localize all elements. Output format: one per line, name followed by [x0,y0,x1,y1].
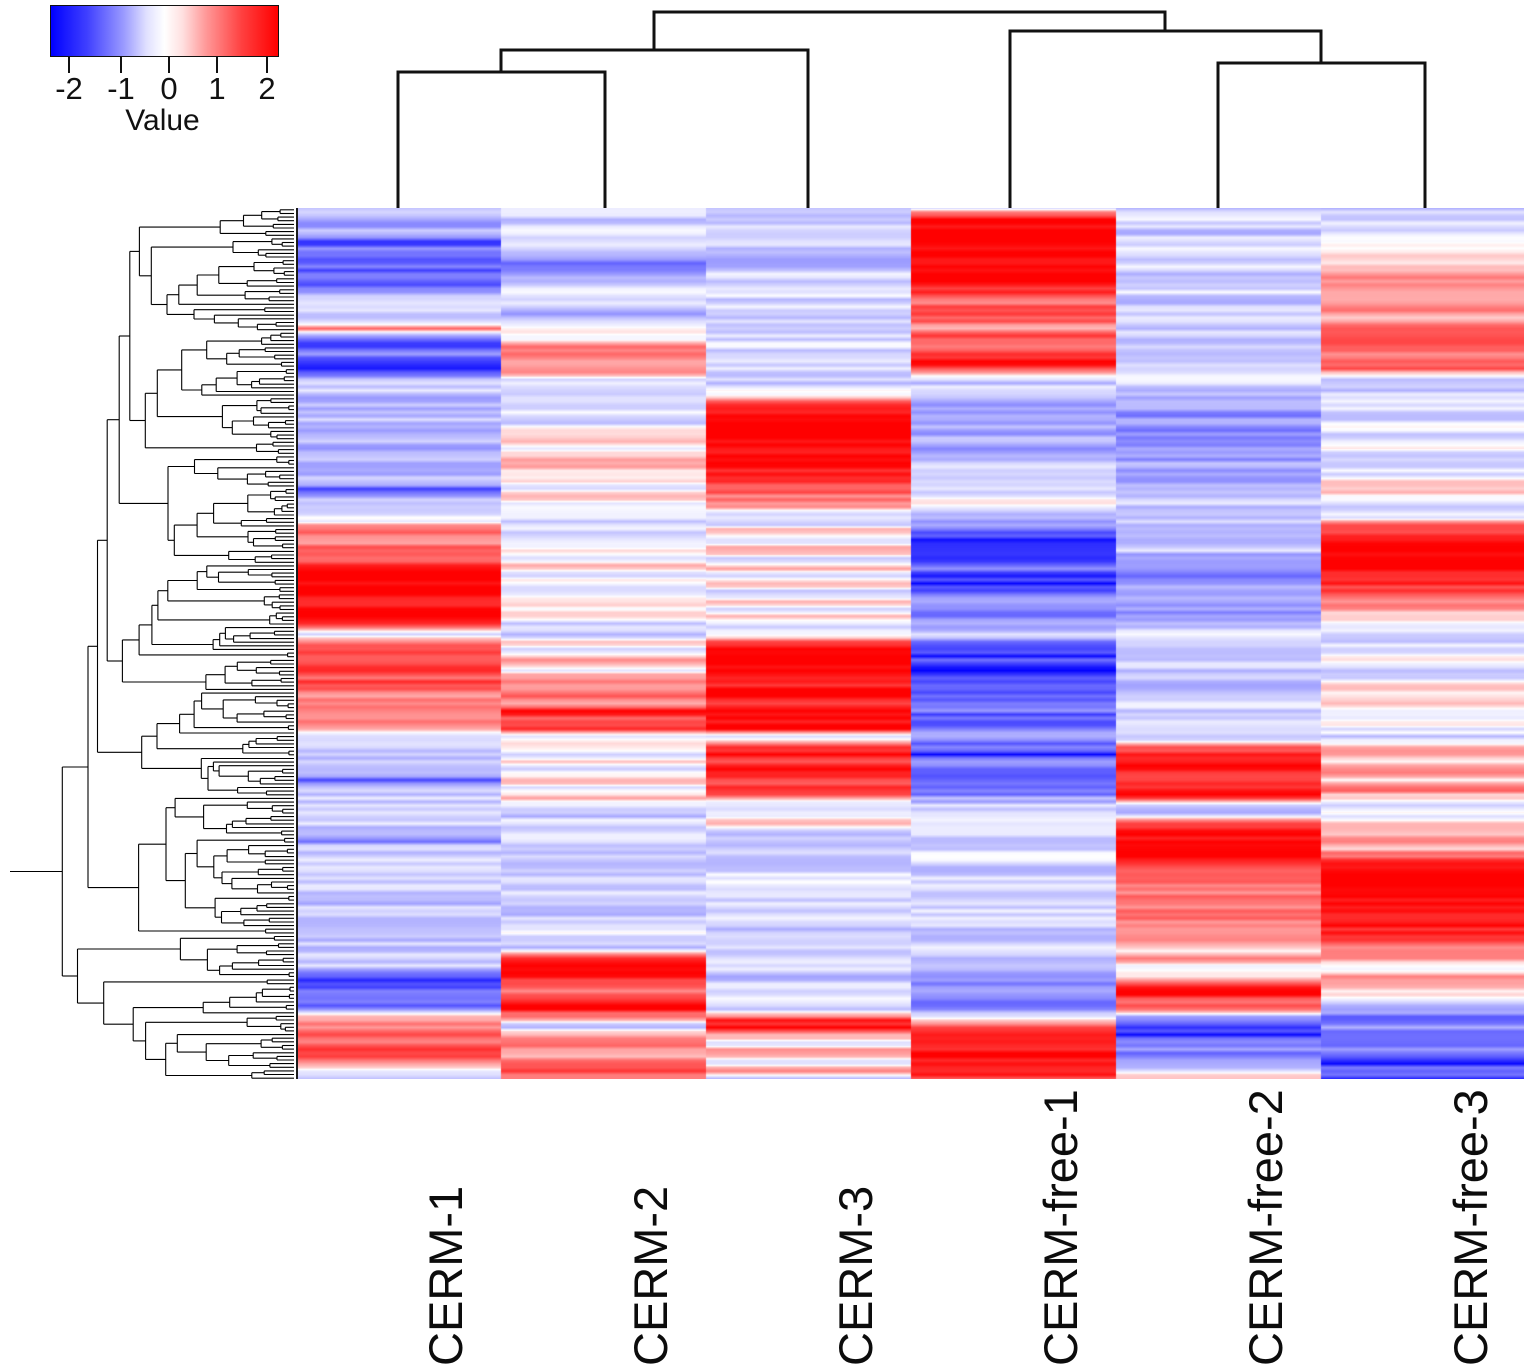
column-label-cerm-1: CERM-1 [426,1082,466,1366]
column-label-cerm-3: CERM-3 [836,1082,876,1366]
column-dendrogram [0,0,1535,210]
column-labels: CERM-1 CERM-2 CERM-3 CERM-free-1 CERM-fr… [296,1082,1525,1366]
column-label-cerm-2: CERM-2 [631,1082,671,1366]
column-label-cerm-free-2: CERM-free-2 [1246,1082,1286,1366]
column-label-cerm-free-3: CERM-free-3 [1451,1082,1491,1366]
column-label-cerm-free-1: CERM-free-1 [1041,1082,1081,1366]
heatmap-body [296,208,1525,1079]
row-dendrogram [10,208,294,1080]
heatmap-canvas [296,208,1525,1079]
heatmap-figure: -2 -1 0 1 2 Value CERM-1 CERM- [0,0,1535,1366]
